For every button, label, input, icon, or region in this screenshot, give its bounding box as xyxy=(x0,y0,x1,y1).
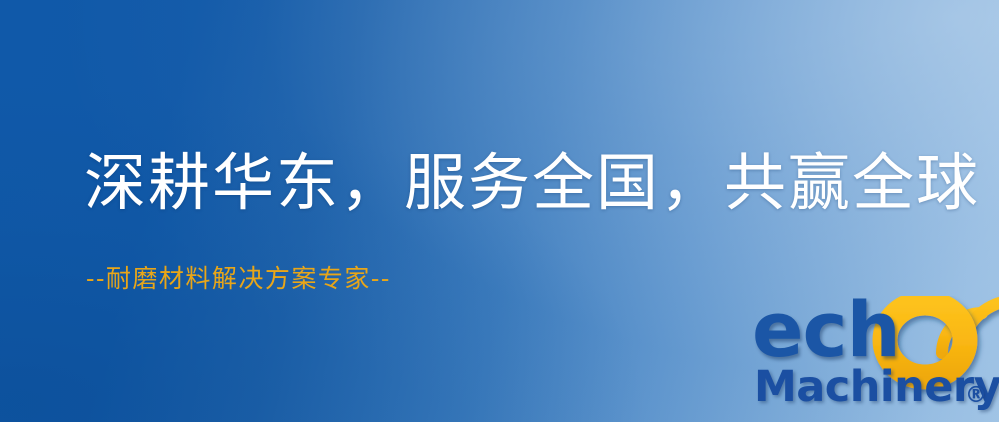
registered-trademark-icon: ® xyxy=(965,385,987,407)
logo-wordmark-echo: ech xyxy=(752,292,900,368)
banner-subtitle: --耐磨材料解决方案专家-- xyxy=(86,266,391,291)
banner-headline: 深耕华东，服务全国，共赢全球 xyxy=(84,152,980,214)
promo-banner: 深耕华东，服务全国，共赢全球 --耐磨材料解决方案专家-- xyxy=(0,0,999,422)
echo-machinery-logo: ech Machinery ® echo xyxy=(744,296,999,422)
logo-wordmark-machinery: Machinery xyxy=(754,366,999,409)
